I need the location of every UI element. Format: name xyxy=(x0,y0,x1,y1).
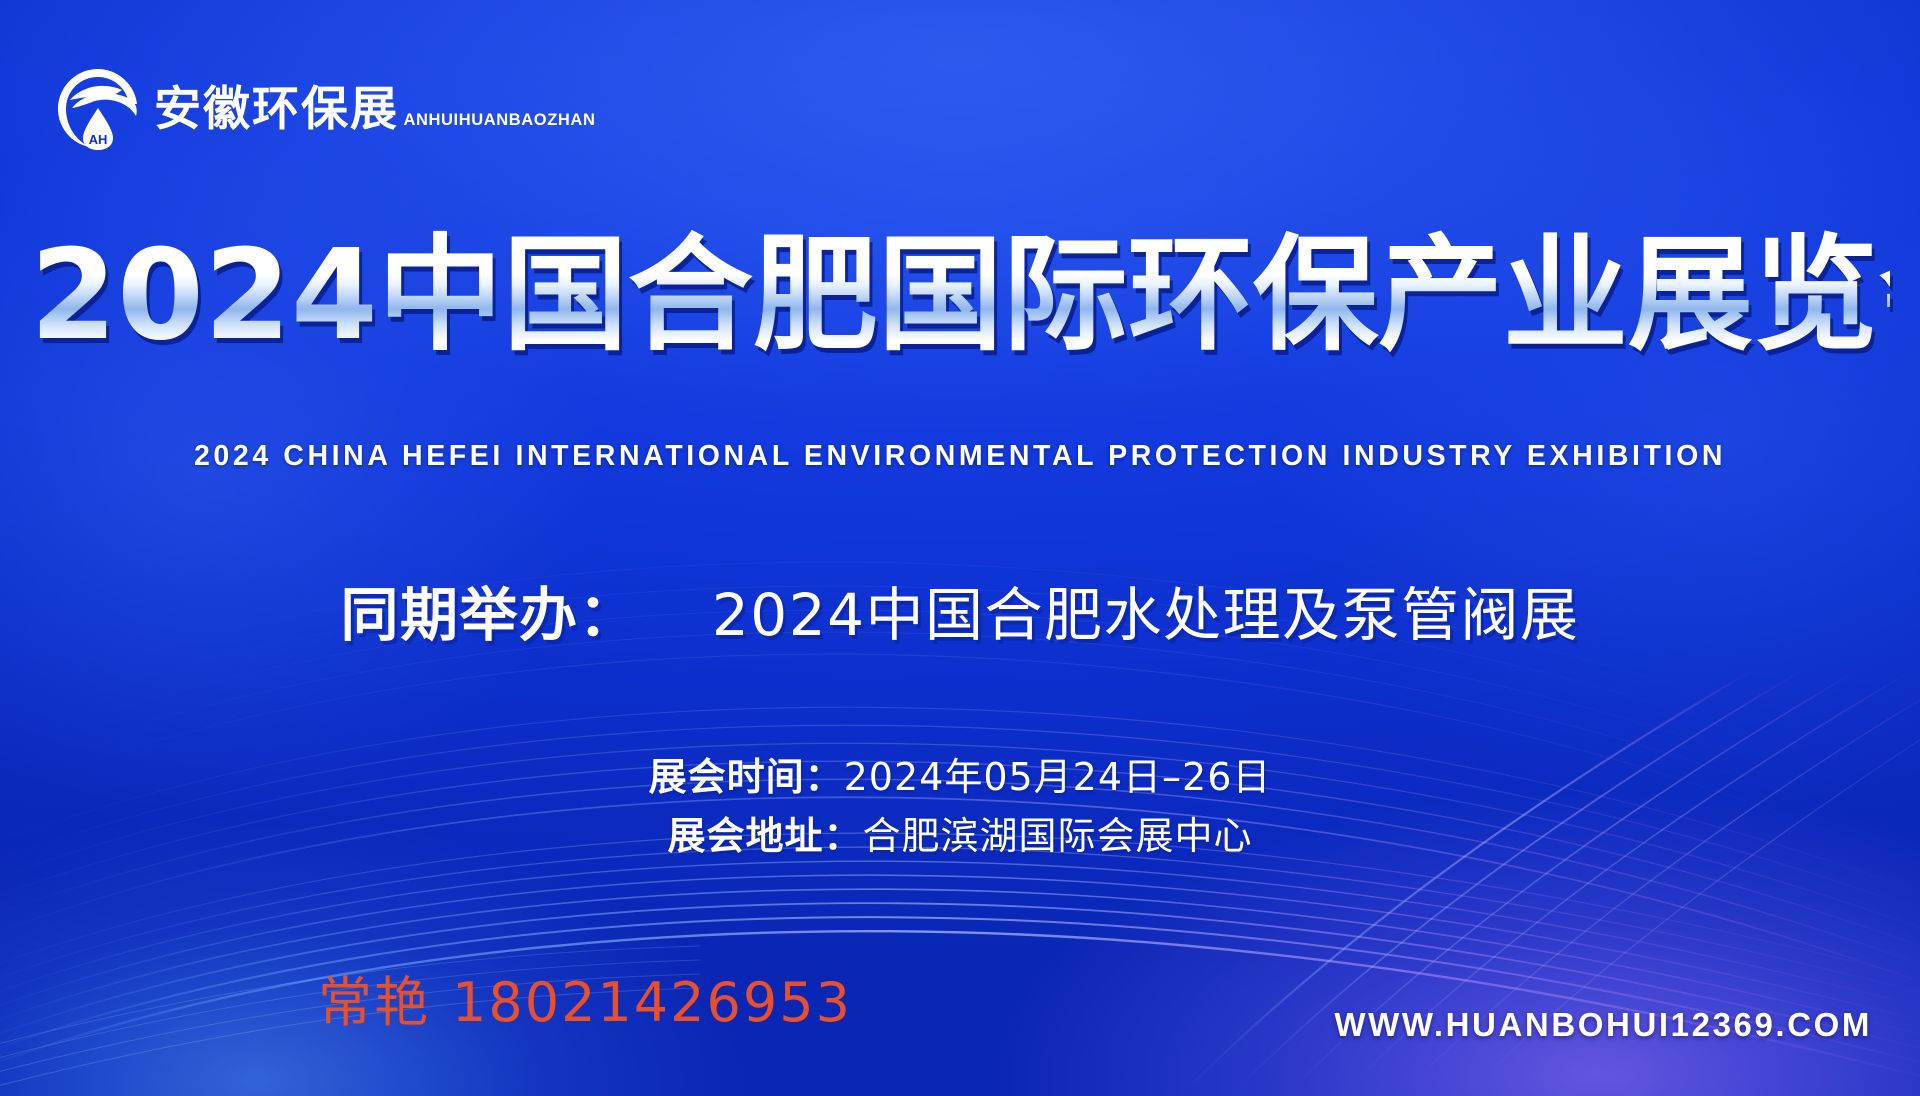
event-address-row: 展会地址：合肥滨湖国际会展中心 xyxy=(30,807,1890,866)
anhui-huanbao-leaf-emblem-icon: AH xyxy=(52,62,144,154)
logo-name-cn: 安徽环保展 xyxy=(154,82,399,137)
concurrent-event-label: 同期举办： xyxy=(341,581,639,649)
page-title: 2024中国合肥国际环保产业展览会 xyxy=(30,228,1890,363)
page-title-english: 2024 CHINA HEFEI INTERNATIONAL ENVIRONME… xyxy=(30,440,1890,473)
concurrent-event-line: 同期举办： 2024中国合肥水处理及泵管阀展 xyxy=(30,568,1890,652)
event-address-value: 合肥滨湖国际会展中心 xyxy=(863,814,1253,858)
contact-line[interactable]: 常艳18021426953 xyxy=(318,958,852,1037)
contact-name: 常艳 xyxy=(318,971,430,1034)
contact-phone[interactable]: 18021426953 xyxy=(452,971,852,1034)
event-date-label: 展会时间： xyxy=(649,755,844,799)
brand-logo[interactable]: AH 安徽环保展 ANHUIHUANBAOZHAN xyxy=(52,62,595,154)
concurrent-event-value: 2024中国合肥水处理及泵管阀展 xyxy=(712,581,1580,649)
logo-name-pinyin: ANHUIHUANBAOZHAN xyxy=(403,111,595,129)
event-address-label: 展会地址： xyxy=(667,814,862,858)
website-url[interactable]: WWW.HUANBOHUI12369.COM xyxy=(1334,1006,1872,1044)
event-date-value: 2024年05月24日–26日 xyxy=(844,755,1272,799)
event-date-row: 展会时间：2024年05月24日–26日 xyxy=(30,748,1890,807)
event-info-block: 展会时间：2024年05月24日–26日 展会地址：合肥滨湖国际会展中心 xyxy=(30,748,1890,866)
logo-text-wrapper: 安徽环保展 ANHUIHUANBAOZHAN xyxy=(154,81,595,134)
svg-text:AH: AH xyxy=(89,132,108,147)
exhibition-poster: AH 安徽环保展 ANHUIHUANBAOZHAN 2024中国合肥国际环保产业… xyxy=(0,0,1920,1096)
